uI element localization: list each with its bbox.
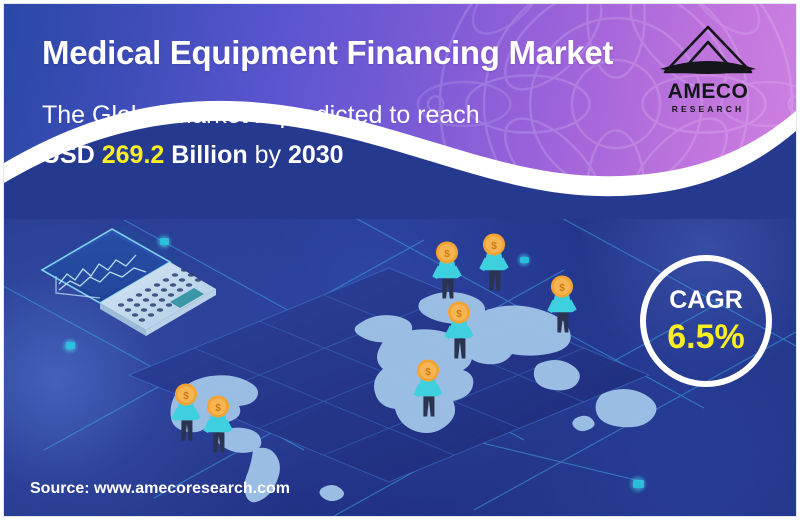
value-currency: USD <box>42 141 95 169</box>
svg-text:$: $ <box>491 241 497 252</box>
svg-text:$: $ <box>215 403 221 414</box>
header-banner: Medical Equipment Financing Market The G… <box>4 4 796 219</box>
laptop-illustration <box>42 213 216 336</box>
svg-text:$: $ <box>183 391 189 402</box>
value-year: 2030 <box>288 141 344 169</box>
svg-text:$: $ <box>456 309 462 320</box>
logo-tagline: RESEARCH <box>654 105 762 114</box>
market-value-line: USD 269.2 Billion by 2030 <box>42 141 344 170</box>
value-amount: 269.2 <box>102 141 165 169</box>
value-connector: by <box>255 141 281 169</box>
svg-text:$: $ <box>444 249 450 260</box>
ameco-research-logo[interactable]: AMECO RESEARCH <box>654 22 762 118</box>
svg-text:$: $ <box>559 283 565 294</box>
cagr-value: 6.5% <box>667 320 745 354</box>
page-title: Medical Equipment Financing Market <box>42 34 613 72</box>
subtitle: The Global Market is predicted to reach <box>42 101 480 130</box>
source-text: Source: www.amecoresearch.com <box>30 480 290 498</box>
svg-text:$: $ <box>425 367 431 378</box>
triangle-a-mark-icon <box>654 22 762 80</box>
cagr-badge: CAGR 6.5% <box>640 255 772 387</box>
logo-name: AMECO <box>654 81 762 102</box>
infographic-canvas: $ $ <box>0 0 800 520</box>
cagr-label: CAGR <box>669 288 743 313</box>
value-unit: Billion <box>171 141 247 169</box>
